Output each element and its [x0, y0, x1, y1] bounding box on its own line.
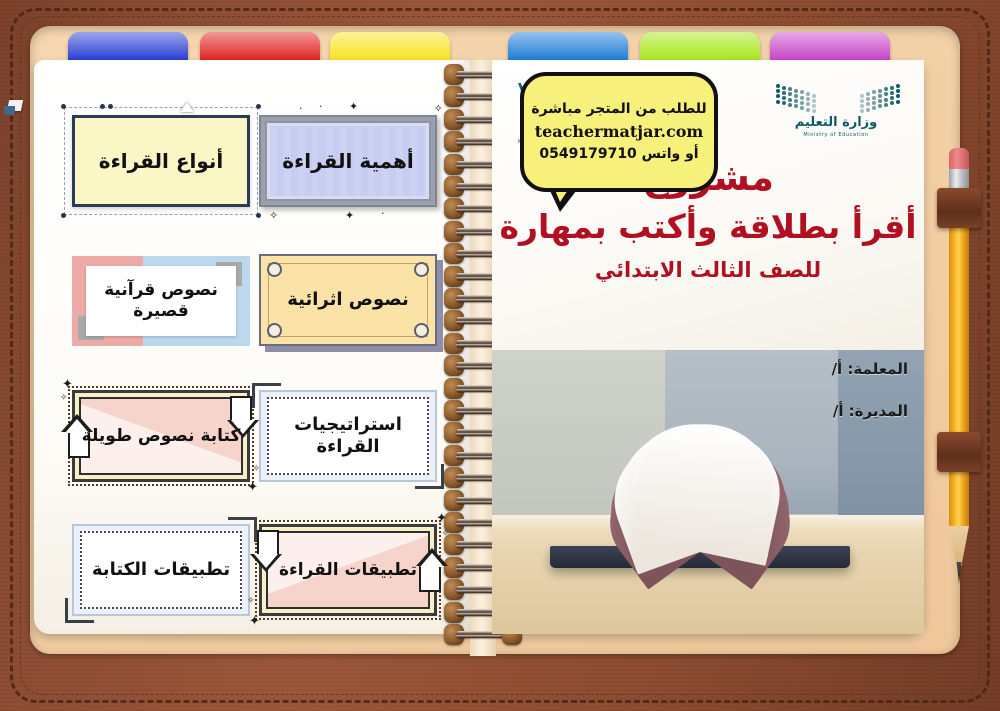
card-nosous-ithraiya[interactable]: نصوص اثرائية — [259, 254, 437, 346]
handle-dot[interactable] — [256, 104, 261, 109]
star-icon: ✧ — [247, 597, 255, 606]
sparkle-icon: ✦ — [349, 101, 358, 112]
staff-lines: المعلمة: أ/ المديرة: أ/ — [748, 360, 908, 444]
handle-dot[interactable] — [108, 104, 113, 109]
bubble-line-1: للطلب من المتجر مباشرة — [531, 99, 706, 120]
star-icon: ✧ — [60, 394, 68, 403]
card-kitabat-nosous[interactable]: ✦ ✧ ✦ ✧ كتابة نصوص طويلة — [72, 390, 250, 482]
rotate-handle-icon[interactable] — [180, 102, 194, 112]
director-line: المديرة: أ/ — [748, 402, 908, 420]
star-icon: ✧ — [441, 530, 449, 539]
card-label: استراتيجيات القراءة — [259, 390, 437, 482]
title-line-2: أقرأ بطلاقة وأكتب بمهارة — [492, 207, 924, 246]
sparkle-icon: ✧ — [269, 210, 278, 221]
sparkle-icon: ✦ — [345, 210, 354, 221]
handle-dot[interactable] — [61, 104, 66, 109]
card-anwa-alqiraa[interactable]: أنواع القراءة — [72, 115, 250, 207]
moe-dot-pattern-icon — [770, 82, 902, 112]
moe-name-arabic: وزارة التعليم — [770, 115, 902, 130]
pencil-graphite-tip — [949, 562, 969, 584]
star-icon: ✦ — [436, 512, 447, 525]
card-tatbiqat-alqiraa[interactable]: ✦ ✧ ✦ ✧ تطبيقات القراءة — [259, 524, 437, 616]
card-istratijiyat[interactable]: استراتيجيات القراءة — [259, 390, 437, 482]
moe-name-english: Ministry of Education — [770, 132, 902, 138]
pencil-wood-tip — [949, 526, 969, 566]
topic-card-grid: أنواع القراءة · · ✦ ✧ ✧ ✦ · أهمية القراء… — [34, 60, 474, 634]
pencil-loop-bottom — [937, 432, 981, 472]
handle-dot[interactable] — [256, 213, 261, 218]
bubble-store-url[interactable]: teachermatjar.com — [535, 120, 704, 144]
card-ahamiyat-alqiraa[interactable]: · · ✦ ✧ ✧ ✦ · أهمية القراءة — [259, 115, 437, 207]
sparkle-icon: · — [381, 208, 385, 219]
star-icon: ✦ — [249, 615, 260, 628]
order-info-speech-bubble: للطلب من المتجر مباشرة teachermatjar.com… — [520, 72, 718, 192]
pencil-body — [949, 206, 969, 526]
star-icon: ✦ — [247, 481, 258, 494]
teacher-line: المعلمة: أ/ — [748, 360, 908, 378]
page-clip-icon — [4, 98, 26, 116]
card-label: أنواع القراءة — [72, 115, 250, 207]
card-nosous-quraniya[interactable]: نصوص قرآنية قصيرة — [72, 256, 250, 346]
card-label: أهمية القراءة — [259, 115, 437, 207]
card-label: نصوص قرآنية قصيرة — [72, 256, 250, 346]
ministry-of-education-logo: وزارة التعليم Ministry of Education — [770, 82, 902, 152]
title-line-3: للصف الثالث الابتدائي — [492, 258, 924, 282]
card-label: تطبيقات القراءة — [259, 524, 437, 616]
card-label: كتابة نصوص طويلة — [72, 390, 250, 482]
card-tatbiqat-alkitaba[interactable]: تطبيقات الكتابة — [72, 524, 250, 616]
handle-dot[interactable] — [61, 213, 66, 218]
bubble-whatsapp: أو واتس 0549179710 — [539, 144, 698, 165]
notebook-cover-page: أنواع القراءة · · ✦ ✧ ✧ ✦ · أهمية القراء… — [0, 0, 1000, 711]
card-label: نصوص اثرائية — [259, 254, 437, 346]
sparkle-icon: · — [319, 101, 323, 112]
card-label: تطبيقات الكتابة — [72, 524, 250, 616]
pencil-eraser — [949, 148, 969, 170]
right-page-content: VISION رؤية 2 30 المملكة العربية السعودي… — [492, 60, 924, 634]
sparkle-icon: ✧ — [434, 103, 443, 114]
pencil-loop-top — [937, 188, 981, 228]
sparkle-icon: · — [299, 103, 303, 114]
handle-dot[interactable] — [100, 104, 105, 109]
